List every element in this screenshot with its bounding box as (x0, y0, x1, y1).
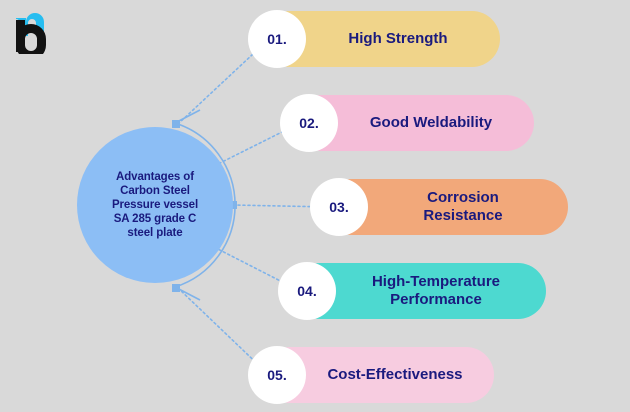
hub-line-2: Carbon Steel (112, 184, 198, 198)
advantage-label-05-line-1: Cost-Effectiveness (308, 366, 482, 384)
advantage-number-03[interactable]: 03. (310, 178, 368, 236)
advantage-number-02[interactable]: 02. (280, 94, 338, 152)
arc-node-05 (172, 284, 180, 292)
hub-title: Advantages of Carbon Steel Pressure vess… (102, 170, 208, 240)
advantage-label-04-line-2: Performance (338, 291, 534, 309)
advantage-number-05[interactable]: 05. (248, 346, 306, 404)
advantage-item-01[interactable]: High Strength 01. (262, 11, 500, 67)
advantage-item-05[interactable]: Cost-Effectiveness 05. (262, 347, 494, 403)
hub-line-3: Pressure vessel (112, 198, 198, 212)
arc-node-01 (172, 120, 180, 128)
advantage-label-01-line-1: High Strength (308, 30, 488, 48)
advantage-number-01[interactable]: 01. (248, 10, 306, 68)
advantage-number-04[interactable]: 04. (278, 262, 336, 320)
advantage-label-03-line-1: Corrosion (370, 189, 556, 207)
hub-circle: Advantages of Carbon Steel Pressure vess… (77, 127, 233, 283)
advantage-item-02[interactable]: Good Weldability 02. (294, 95, 534, 151)
advantage-item-04[interactable]: High-Temperature Performance 04. (292, 263, 546, 319)
advantage-label-02-line-1: Good Weldability (340, 114, 522, 132)
advantage-label-04-line-1: High-Temperature (338, 273, 534, 291)
hub-line-1: Advantages of (112, 170, 198, 184)
infographic-canvas: Advantages of Carbon Steel Pressure vess… (0, 0, 630, 412)
hub-line-5: steel plate (112, 226, 198, 240)
advantage-item-03[interactable]: Corrosion Resistance 03. (324, 179, 568, 235)
advantage-label-03-line-2: Resistance (370, 207, 556, 225)
hub-line-4: SA 285 grade C (112, 212, 198, 226)
